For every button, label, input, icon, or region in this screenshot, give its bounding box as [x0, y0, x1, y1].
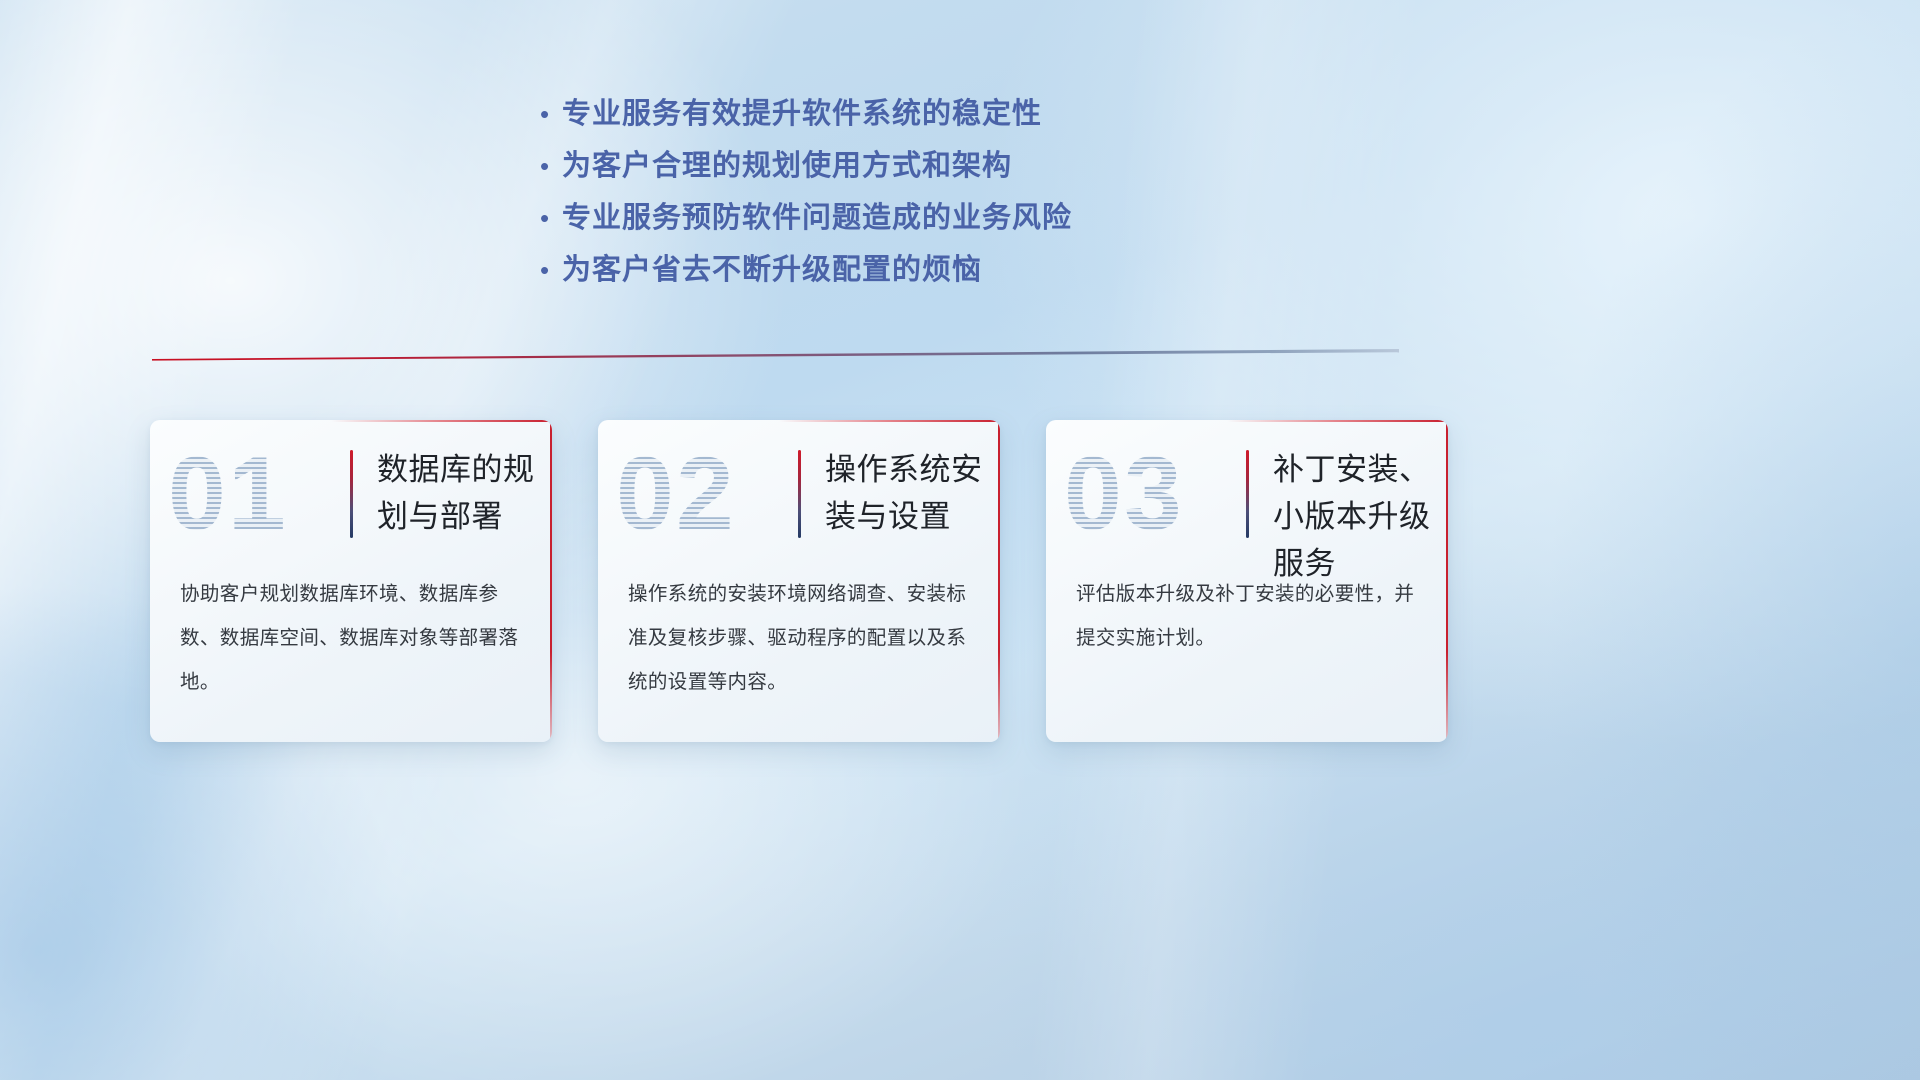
service-card-01[interactable]: 01 01 数据库的规划与部署 协助客户规划数据库环境、数据库参数、数据库空间、…: [150, 420, 552, 742]
benefits-bullet-list: • 专业服务有效提升软件系统的稳定性 • 为客户合理的规划使用方式和架构 • 专…: [536, 88, 1436, 296]
card-title-divider-bar: [798, 450, 801, 538]
list-item: • 专业服务有效提升软件系统的稳定性: [536, 88, 1436, 140]
section-divider: [152, 349, 1399, 361]
card-title: 操作系统安装与设置: [825, 446, 1000, 540]
list-item: • 为客户省去不断升级配置的烦恼: [536, 244, 1436, 296]
list-item: • 专业服务预防软件问题造成的业务风险: [536, 192, 1436, 244]
bullet-marker-icon: •: [536, 244, 562, 296]
card-title-block: 数据库的规划与部署: [350, 446, 552, 540]
card-header: 01 01 数据库的规划与部署: [150, 420, 552, 572]
bullet-text: 为客户合理的规划使用方式和架构: [562, 140, 1012, 192]
card-title: 数据库的规划与部署: [377, 446, 552, 540]
bullet-marker-icon: •: [536, 192, 562, 244]
card-number-watermark: 02: [616, 442, 736, 546]
card-description: 协助客户规划数据库环境、数据库参数、数据库空间、数据库对象等部署落地。: [150, 572, 552, 704]
card-number-watermark-shadow: 03: [1064, 442, 1184, 546]
card-number-watermark-shadow: 01: [168, 442, 288, 546]
service-card-grid: 01 01 数据库的规划与部署 协助客户规划数据库环境、数据库参数、数据库空间、…: [150, 420, 1770, 745]
card-title: 补丁安装、小版本升级服务: [1273, 446, 1448, 587]
service-card-03[interactable]: 03 03 补丁安装、小版本升级服务 评估版本升级及补丁安装的必要性，并提交实施…: [1046, 420, 1448, 742]
card-number-watermark: 03: [1064, 442, 1184, 546]
bullet-text: 专业服务预防软件问题造成的业务风险: [562, 192, 1072, 244]
bullet-text: 专业服务有效提升软件系统的稳定性: [562, 88, 1042, 140]
card-header: 02 02 操作系统安装与设置: [598, 420, 1000, 572]
card-title-divider-bar: [350, 450, 353, 538]
list-item: • 为客户合理的规划使用方式和架构: [536, 140, 1436, 192]
card-number-watermark: 01: [168, 442, 288, 546]
card-title-divider-bar: [1246, 450, 1249, 538]
card-description: 操作系统的安装环境网络调查、安装标准及复核步骤、驱动程序的配置以及系统的设置等内…: [598, 572, 1000, 704]
bullet-text: 为客户省去不断升级配置的烦恼: [562, 244, 982, 296]
service-card-02[interactable]: 02 02 操作系统安装与设置 操作系统的安装环境网络调查、安装标准及复核步骤、…: [598, 420, 1000, 742]
bullet-marker-icon: •: [536, 88, 562, 140]
card-title-block: 补丁安装、小版本升级服务: [1246, 446, 1448, 587]
card-number-watermark-shadow: 02: [616, 442, 736, 546]
bullet-marker-icon: •: [536, 140, 562, 192]
card-header: 03 03 补丁安装、小版本升级服务: [1046, 420, 1448, 572]
card-title-block: 操作系统安装与设置: [798, 446, 1000, 540]
slide-canvas: • 专业服务有效提升软件系统的稳定性 • 为客户合理的规划使用方式和架构 • 专…: [0, 0, 1920, 1080]
